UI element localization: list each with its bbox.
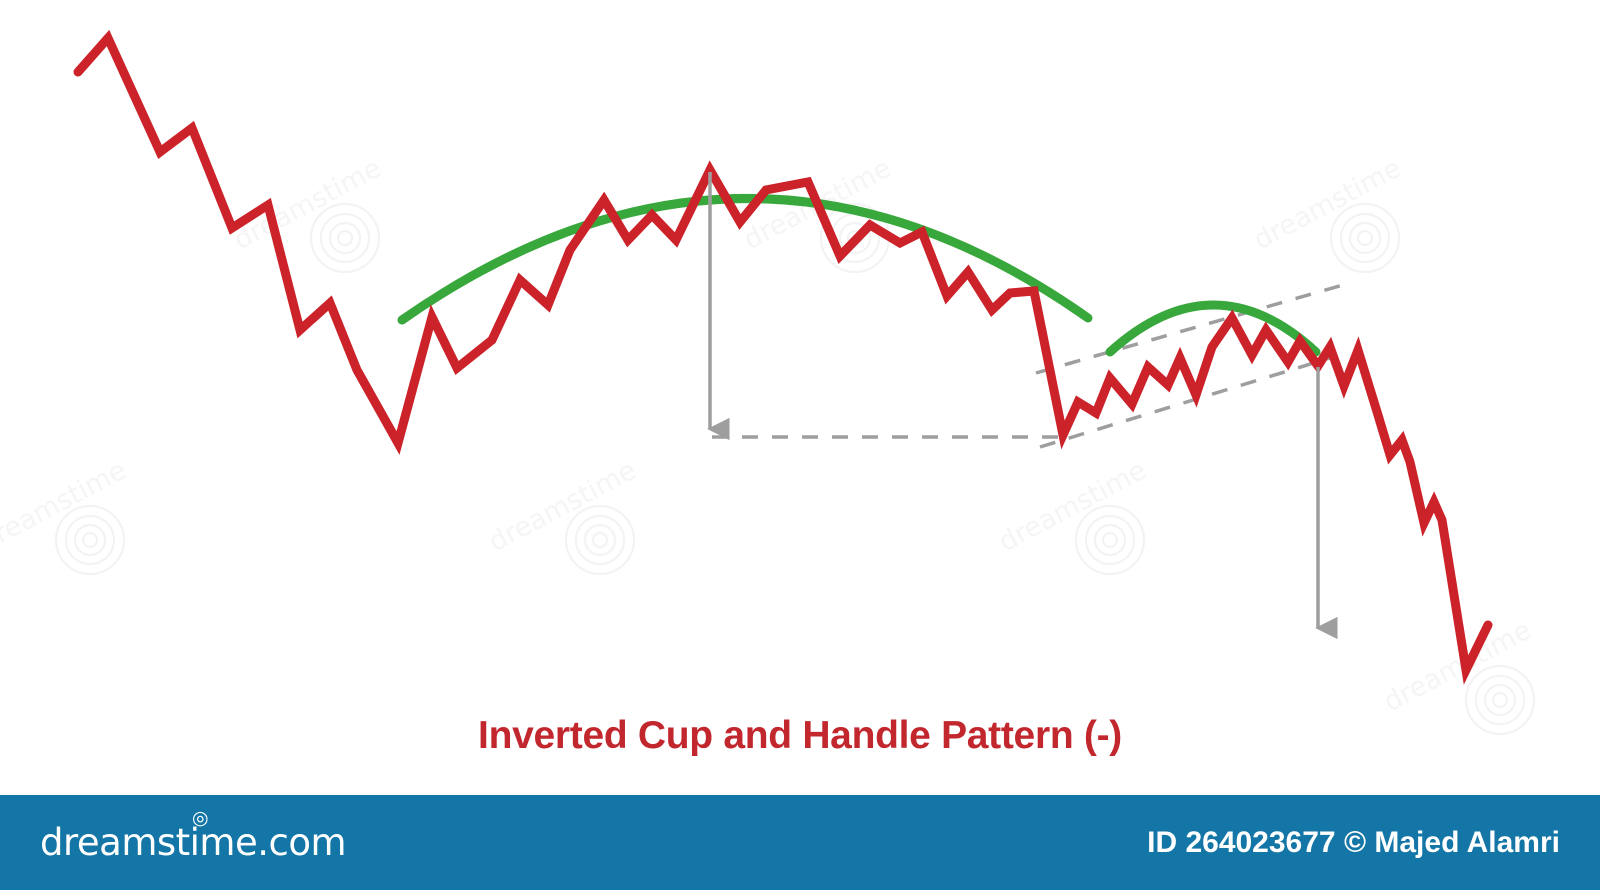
page-title: Inverted Cup and Handle Pattern (-) [0,714,1600,758]
spiral-icon: ◎ [192,809,208,828]
handle-channel-upper [1036,283,1350,373]
tiled-watermark-group: dreamstime dreamstime dreamstime dreamst… [0,153,1536,734]
svg-text:dreamstime: dreamstime [229,153,387,257]
image-credit: ID 264023677 © Majed Alamri [1147,826,1560,860]
chart-canvas: dreamstime dreamstime dreamstime dreamst… [0,0,1600,890]
svg-text:dreamstime: dreamstime [484,455,642,559]
dreamstime-logo: dreamstime.com ◎ [40,821,346,864]
price-line [78,38,1488,670]
measured-move-arrows-group [710,172,1318,628]
svg-text:dreamstime: dreamstime [1249,153,1407,257]
svg-text:dreamstime: dreamstime [994,455,1152,559]
watermark-bar: dreamstime.com ◎ ID 264023677 © Majed Al… [0,795,1600,890]
